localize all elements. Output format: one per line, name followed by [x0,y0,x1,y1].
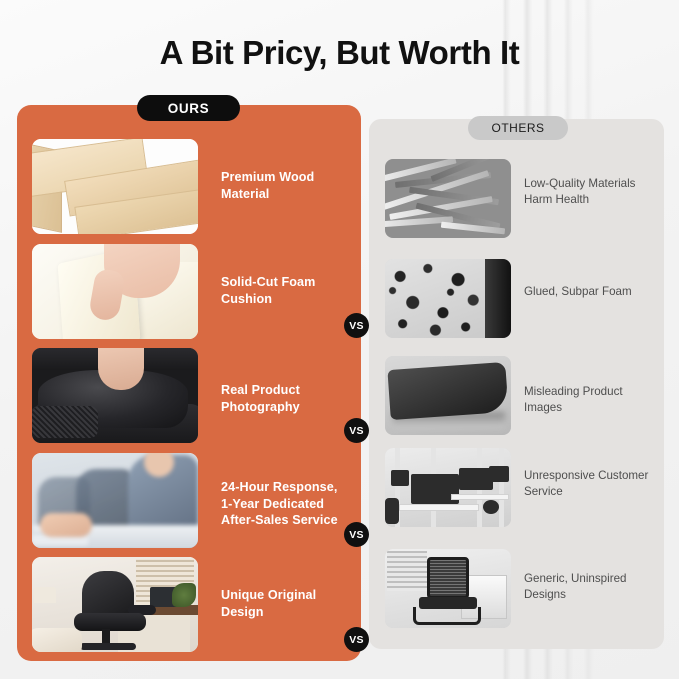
ours-badge: OURS [137,95,240,121]
vs-badge: VS [344,313,369,338]
others-label: Low-Quality Materials Harm Health [524,176,662,208]
others-image-glued-foam [385,259,511,338]
ours-label: Real Product Photography [221,382,346,415]
others-label: Misleading Product Images [524,384,662,416]
comparison-row: Unique Original Design VS Generic, Unins… [0,557,679,657]
comparison-row: Real Product Photography VS Misleading P… [0,348,679,448]
others-image-misleading-cushion [385,356,511,435]
comparison-row: Solid-Cut Foam Cushion VS Glued, Subpar … [0,244,679,344]
ours-label: Premium Wood Material [221,169,346,202]
others-image-empty-office [385,448,511,527]
ours-image-foam-cushion [32,244,198,339]
ours-image-customer-service [32,453,198,548]
others-image-generic-chair [385,549,511,628]
ours-image-wood-beams [32,139,198,234]
vs-badge: VS [344,418,369,443]
ours-label: Unique Original Design [221,587,346,620]
comparison-row: 24-Hour Response, 1-Year Dedicated After… [0,453,679,553]
page-title: A Bit Pricy, But Worth It [0,34,679,72]
ours-image-leather-cushion [32,348,198,443]
others-badge: OTHERS [468,116,568,140]
others-label: Glued, Subpar Foam [524,284,662,300]
comparison-row: Premium Wood Material VS Low-Quality Mat… [0,139,679,239]
others-image-scrap-wood [385,159,511,238]
vs-badge: VS [344,522,369,547]
ours-image-original-chair [32,557,198,652]
others-label: Unresponsive Customer Service [524,468,662,500]
others-label: Generic, Uninspired Designs [524,571,662,603]
vs-badge: VS [344,627,369,652]
ours-label: Solid-Cut Foam Cushion [221,274,346,307]
ours-label: 24-Hour Response, 1-Year Dedicated After… [221,479,346,529]
